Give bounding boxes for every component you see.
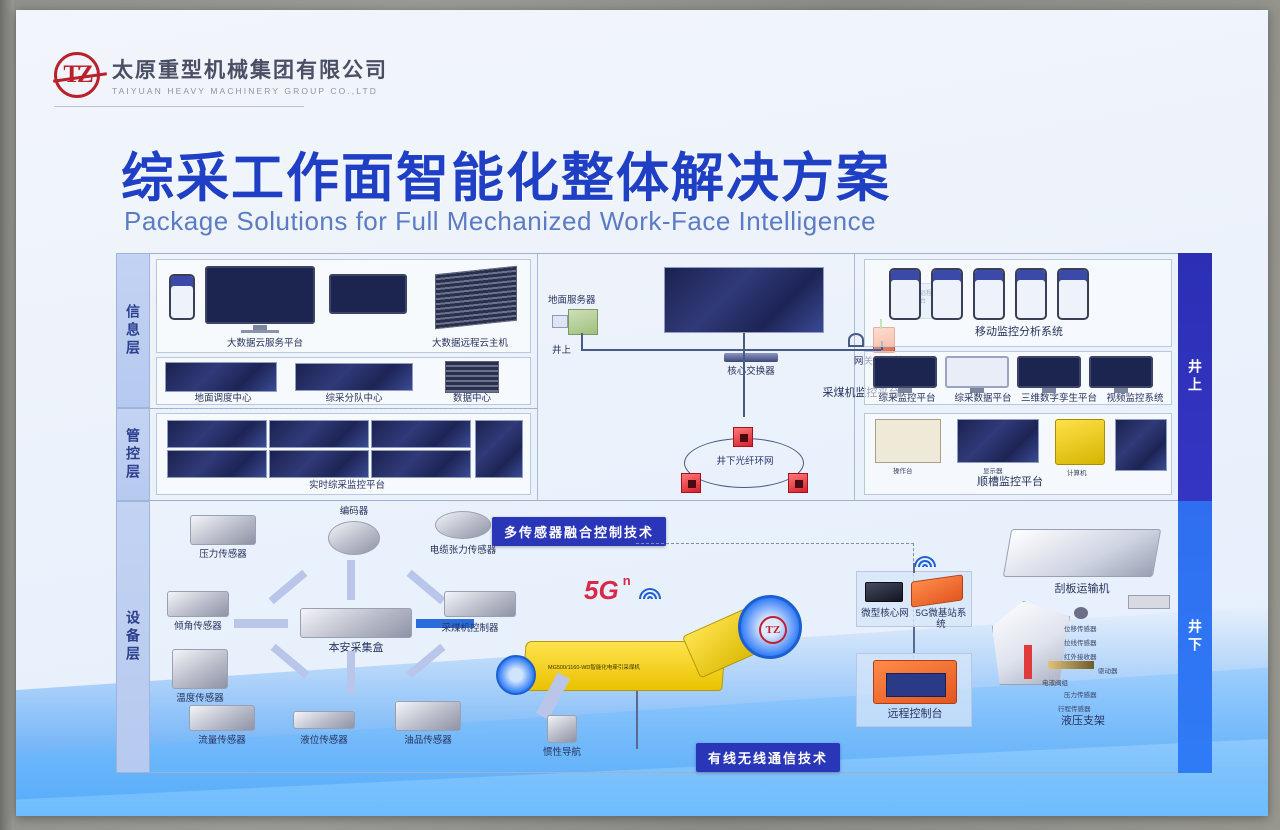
device-operation-console: [875, 419, 941, 463]
device-computer: [1055, 419, 1105, 465]
label-pressure-sensor: 压力传感器: [178, 549, 268, 560]
caption-mobile-system: 移动监控分析系统: [949, 326, 1089, 339]
sensor-pressure: 压力传感器: [178, 515, 268, 560]
network-down-ring: [743, 349, 745, 417]
line-box-to-console: [913, 627, 915, 653]
solution-diagram: 信息层 管控层 设备层 井上 井下: [116, 253, 1212, 773]
label-remote-console: 远程控制台: [865, 708, 965, 721]
line-wifi-to-box: [913, 563, 915, 573]
device-inertial-navigation: 惯性导航: [522, 715, 602, 758]
panel-bigdata: 大数据云服务平台 大数据远程云主机: [156, 259, 531, 353]
ring-node-right: [788, 473, 808, 493]
platform-monitor-1: [873, 356, 937, 393]
label-micro-core-network: 微型核心网: [859, 608, 911, 619]
icon-surface-server: [568, 309, 598, 335]
platform-monitor-4: [1089, 356, 1153, 393]
arrow-to-encoder: [347, 560, 355, 600]
label-core-switch: 核心交换器: [706, 366, 796, 377]
label-displacement-sensor: 位移传感器: [1064, 623, 1097, 633]
wifi-icon-uplink: [912, 549, 938, 567]
divider-info-control-left: [150, 408, 537, 409]
network-drop-server: [581, 333, 583, 350]
divider-col1: [537, 254, 538, 501]
thumb-rt-6: [371, 450, 471, 478]
caption-platform-2: 综采数据平台: [945, 393, 1021, 404]
sub-label-console: 操作台: [893, 465, 913, 475]
zone-label-surface: 井上: [1185, 359, 1205, 395]
label-encoder: 编码器: [306, 506, 402, 517]
machine-scraper-conveyor: 刮板运输机: [992, 529, 1172, 596]
panel-remote-console: 远程控制台: [856, 653, 972, 727]
icon-desktop-screen: [552, 315, 568, 328]
tz-logo-icon: TZ: [54, 52, 100, 98]
company-logo: TZ 太原重型机械集团有限公司 TAIYUAN HEAVY MACHINERY …: [54, 52, 388, 98]
label-surface-mark: 井上: [552, 345, 588, 356]
thumb-rt-2: [269, 420, 369, 448]
sidebar-item-control-layer[interactable]: 管控层: [116, 408, 150, 501]
thumb-rt-big: [475, 420, 523, 478]
device-remote-console-unit: [873, 660, 957, 704]
label-hydraulic-support: 液压支架: [1028, 715, 1138, 728]
device-5g-micro-station: [911, 574, 963, 607]
label-hub: 本安采集盒: [296, 642, 416, 655]
zone-underground[interactable]: 井下: [1178, 501, 1212, 773]
mobile-screen-5: [1057, 268, 1089, 320]
label-infrared-receiver: 红外接收器: [1064, 651, 1097, 661]
machine-model-label: MG500/1160-WD智能化电牵引采煤机: [548, 663, 640, 671]
company-name-cn: 太原重型机械集团有限公司: [112, 54, 388, 84]
five-g-superscript: n: [623, 573, 631, 588]
label-pullwire-sensor: 拉线传感器: [1064, 637, 1097, 647]
drum-left: [496, 655, 536, 695]
arrow-to-level: [347, 651, 355, 693]
panel-roadway-monitor: 操作台 显示器 计算机 顺槽监控平台: [864, 413, 1172, 495]
layer-label-equipment: 设备层: [123, 610, 143, 664]
sensor-inclination: 倾角传感器: [150, 591, 246, 632]
page-subtitle: Package Solutions for Full Mechanized Wo…: [124, 206, 876, 237]
label-temperature-sensor: 温度传感器: [152, 693, 248, 704]
layer-label-information: 信息层: [123, 304, 143, 358]
panel-mobile-system: 移动监控分析系统: [864, 259, 1172, 347]
device-secondary-monitor: [329, 274, 407, 314]
banner-communication-tech: 有线无线通信技术: [696, 743, 840, 772]
label-flow-sensor: 流量传感器: [174, 735, 270, 746]
sensor-oil: 油品传感器: [378, 701, 478, 746]
panel-realtime-monitor: 实时综采监控平台: [156, 413, 531, 495]
sub-label-display: 显示器: [983, 465, 1003, 475]
sensor-flow: 流量传感器: [174, 705, 270, 746]
machine-hydraulic-support: 位移传感器 拉线传感器 红外接收器 驱动器 电液阀组 压力传感器 行程传感器 液…: [988, 593, 1172, 723]
mobile-screen-3: [973, 268, 1005, 320]
device-display: [957, 419, 1039, 463]
thumb-rt-4: [167, 450, 267, 478]
device-phone: [169, 274, 195, 320]
label-cable-tension-sensor: 电缆张力传感器: [408, 545, 518, 556]
caption-dispatch-center: 地面调度中心: [175, 393, 271, 404]
thumb-dispatch-center: [165, 362, 277, 392]
thumb-rt-1: [167, 420, 267, 448]
sidebar-item-information-layer[interactable]: 信息层: [116, 253, 150, 408]
label-5g-micro-station: 5G微基站系统: [911, 608, 971, 631]
ring-node-top: [733, 427, 753, 447]
panel-5g-network: 微型核心网 5G微基站系统: [856, 571, 972, 627]
divider-col2: [854, 254, 855, 501]
sensor-level: 液位传感器: [276, 705, 372, 746]
mobile-screen-4: [1015, 268, 1047, 320]
page-title: 综采工作面智能化整体解决方案: [121, 136, 891, 212]
platform-monitor-2: [945, 356, 1009, 393]
device-main-monitor: [205, 266, 315, 333]
label-inertial-nav: 惯性导航: [522, 747, 602, 758]
drum-right: TZ: [738, 595, 802, 659]
five-g-mark: 5G n: [584, 575, 663, 606]
caption-bigdata-cloud-platform: 大数据云服务平台: [195, 338, 335, 349]
layer-label-control: 管控层: [123, 428, 143, 482]
five-g-text: 5G: [584, 575, 619, 606]
panel-centers: 地面调度中心 综采分队中心 数据中心: [156, 357, 531, 405]
caption-realtime-monitor: 实时综采监控平台: [277, 480, 417, 491]
thumb-rt-3: [371, 420, 471, 448]
label-level-sensor: 液位传感器: [276, 735, 372, 746]
label-ring-network: 井下光纤环网: [704, 456, 786, 467]
banner-multi-sensor-fusion: 多传感器融合控制技术: [492, 517, 666, 546]
wifi-icon: [637, 581, 663, 599]
mobile-screen-1: [889, 268, 921, 320]
icon-core-switch: [724, 353, 778, 362]
sensor-temperature: 温度传感器: [152, 649, 248, 704]
caption-platform-4: 视频监控系统: [1097, 393, 1173, 404]
zone-surface[interactable]: 井上: [1178, 253, 1212, 501]
label-travel-sensor: 行程传感器: [1058, 703, 1091, 713]
icon-gateway: [848, 333, 864, 347]
label-support-pressure-sensor: 压力传感器: [1064, 689, 1097, 699]
caption-roadway-platform: 顺槽监控平台: [945, 476, 1075, 489]
sensor-encoder: 编码器: [306, 506, 402, 555]
mobile-screen-2: [931, 268, 963, 320]
device-server-rack: [435, 270, 517, 325]
company-name-en: TAIYUAN HEAVY MACHINERY GROUP CO.,LTD: [112, 86, 388, 96]
panel-platforms: 综采监控平台 综采数据平台 三维数字孪生平台 视频监控系统: [864, 351, 1172, 405]
thumb-team-center: [295, 363, 413, 391]
tz-logo-text: TZ: [63, 61, 90, 89]
label-inclination-sensor: 倾角传感器: [150, 621, 246, 632]
zone-label-underground: 井下: [1185, 619, 1205, 655]
network-bus: [581, 349, 881, 351]
sidebar-item-equipment-layer[interactable]: 设备层: [116, 501, 150, 773]
ring-node-left: [681, 473, 701, 493]
device-micro-core-network: [865, 582, 903, 602]
caption-platform-1: 综采监控平台: [869, 393, 945, 404]
thumb-rt-5: [269, 450, 369, 478]
label-driver: 驱动器: [1098, 665, 1118, 675]
caption-platform-3: 三维数字孪生平台: [1021, 393, 1097, 404]
caption-data-center: 数据中心: [440, 393, 504, 404]
platform-monitor-3: [1017, 356, 1081, 393]
thumb-shearer-monitor-wall: [664, 267, 824, 333]
poster-board: TZ 太原重型机械集团有限公司 TAIYUAN HEAVY MACHINERY …: [16, 10, 1268, 816]
device-intrinsic-safe-box: 本安采集盒: [296, 608, 416, 655]
label-electro-hydraulic-valve: 电液阀组: [1042, 677, 1068, 687]
thumb-data-center: [445, 361, 499, 393]
brand-divider: [54, 106, 304, 107]
caption-team-center: 综采分队中心: [305, 393, 403, 404]
label-oil-sensor: 油品传感器: [378, 735, 478, 746]
caption-bigdata-remote-host: 大数据远程云主机: [405, 338, 535, 349]
thumb-roadway-room: [1115, 419, 1167, 471]
label-surface-server: 地面服务器: [548, 295, 608, 306]
